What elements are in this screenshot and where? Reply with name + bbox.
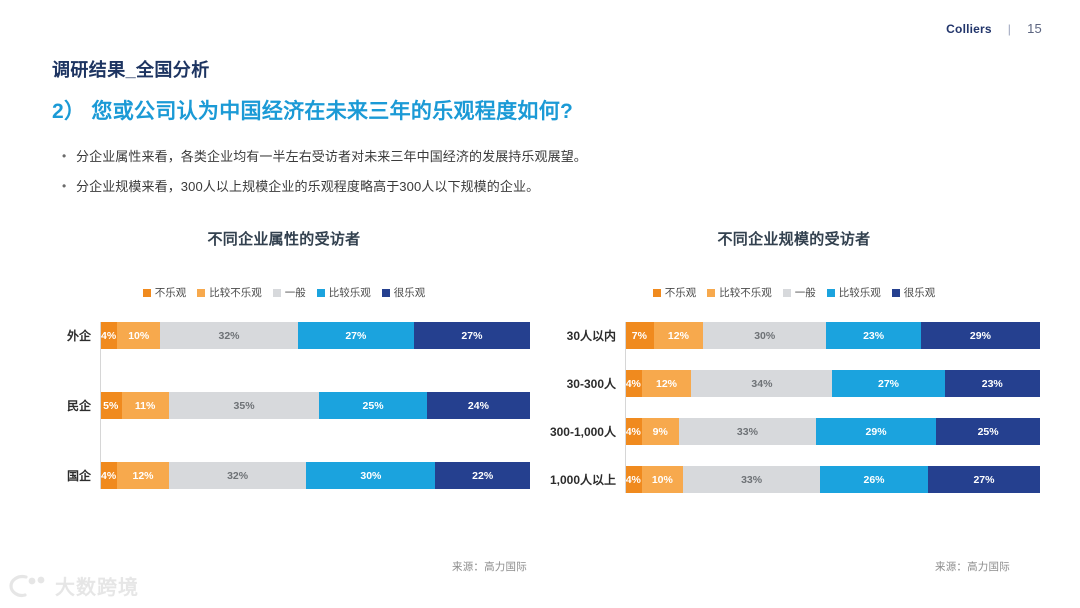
legend-label: 不乐观: [665, 285, 697, 300]
row-spacer: [548, 349, 1040, 370]
legend-swatch-icon: [783, 289, 791, 297]
legend-item[interactable]: 不乐观: [653, 285, 697, 300]
chart-source-note: 来源：高力国际: [935, 559, 1010, 574]
legend-item[interactable]: 不乐观: [143, 285, 187, 300]
bar-segment[interactable]: 34%: [691, 370, 832, 397]
bar-segment[interactable]: 4%: [625, 466, 642, 493]
bar-segment[interactable]: 32%: [169, 462, 307, 489]
bullet-text: 分企业属性来看，各类企业均有一半左右受访者对未来三年中国经济的发展持乐观展望。: [76, 148, 587, 165]
legend-label: 比较乐观: [329, 285, 371, 300]
stacked-bar: 4%9%33%29%25%: [625, 418, 1040, 445]
chart-source-note: 来源：高力国际: [452, 559, 527, 574]
bar-segment[interactable]: 12%: [117, 462, 169, 489]
slide-header: Colliers | 15: [946, 21, 1042, 36]
stacked-bar: 4%12%34%27%23%: [625, 370, 1040, 397]
legend-item[interactable]: 比较乐观: [317, 285, 371, 300]
bullet-marker-icon: •: [62, 178, 76, 195]
chart-company-size: 不同企业规模的受访者 不乐观比较不乐观一般比较乐观很乐观 30人以内7%12%3…: [548, 228, 1040, 493]
chart-row: 民企5%11%35%25%24%: [38, 392, 530, 419]
legend-item[interactable]: 比较乐观: [827, 285, 881, 300]
bar-segment[interactable]: 23%: [945, 370, 1040, 397]
slide-page: Colliers | 15 调研结果_全国分析 2） 您或公司认为中国经济在未来…: [0, 0, 1080, 608]
bullet-list: • 分企业属性来看，各类企业均有一半左右受访者对未来三年中国经济的发展持乐观展望…: [62, 148, 962, 208]
chart-row: 30-300人4%12%34%27%23%: [548, 370, 1040, 397]
list-item: • 分企业属性来看，各类企业均有一半左右受访者对未来三年中国经济的发展持乐观展望…: [62, 148, 962, 165]
bar-segment[interactable]: 4%: [625, 418, 642, 445]
chart-row: 1,000人以上4%10%33%26%27%: [548, 466, 1040, 493]
bar-segment[interactable]: 9%: [642, 418, 679, 445]
bar-segment[interactable]: 12%: [642, 370, 692, 397]
bar-segment[interactable]: 35%: [169, 392, 320, 419]
bar-segment[interactable]: 10%: [117, 322, 160, 349]
page-number: 15: [1027, 21, 1042, 36]
legend-label: 一般: [795, 285, 816, 300]
chart-legend: 不乐观比较不乐观一般比较乐观很乐观: [38, 285, 530, 300]
bar-segment[interactable]: 23%: [826, 322, 921, 349]
bar-segment[interactable]: 11%: [122, 392, 169, 419]
bar-segment[interactable]: 5%: [100, 392, 122, 419]
bullet-text: 分企业规模来看，300人以上规模企业的乐观程度略高于300人以下规模的企业。: [76, 178, 539, 195]
legend-swatch-icon: [653, 289, 661, 297]
legend-label: 一般: [285, 285, 306, 300]
row-spacer: [548, 397, 1040, 418]
legend-label: 比较乐观: [839, 285, 881, 300]
bar-segment[interactable]: 4%: [100, 322, 117, 349]
chart-legend: 不乐观比较不乐观一般比较乐观很乐观: [548, 285, 1040, 300]
bar-segment[interactable]: 4%: [100, 462, 117, 489]
legend-item[interactable]: 一般: [783, 285, 816, 300]
bullet-marker-icon: •: [62, 148, 76, 165]
category-label: 30-300人: [548, 375, 625, 392]
bar-segment[interactable]: 33%: [683, 466, 820, 493]
stacked-bar: 7%12%30%23%29%: [625, 322, 1040, 349]
bar-segment[interactable]: 25%: [319, 392, 427, 419]
chart-title: 不同企业规模的受访者: [548, 228, 1040, 249]
row-spacer: [38, 419, 530, 462]
watermark-text: 大数跨境: [55, 571, 139, 600]
stacked-bar: 5%11%35%25%24%: [100, 392, 530, 419]
chart-title: 不同企业属性的受访者: [38, 228, 530, 249]
legend-swatch-icon: [143, 289, 151, 297]
legend-swatch-icon: [827, 289, 835, 297]
chart-row: 国企4%12%32%30%22%: [38, 462, 530, 489]
category-label: 30人以内: [548, 327, 625, 344]
legend-swatch-icon: [317, 289, 325, 297]
bar-segment[interactable]: 30%: [306, 462, 435, 489]
bar-segment[interactable]: 26%: [820, 466, 928, 493]
category-label: 国企: [38, 467, 100, 484]
legend-label: 很乐观: [394, 285, 426, 300]
legend-item[interactable]: 比较不乐观: [707, 285, 772, 300]
legend-swatch-icon: [707, 289, 715, 297]
legend-item[interactable]: 比较不乐观: [197, 285, 262, 300]
list-item: • 分企业规模来看，300人以上规模企业的乐观程度略高于300人以下规模的企业。: [62, 178, 962, 195]
header-separator: |: [1008, 22, 1011, 36]
legend-item[interactable]: 很乐观: [892, 285, 936, 300]
bar-segment[interactable]: 30%: [703, 322, 826, 349]
chart-row: 300-1,000人4%9%33%29%25%: [548, 418, 1040, 445]
row-spacer: [548, 445, 1040, 466]
stacked-bar: 4%10%33%26%27%: [625, 466, 1040, 493]
watermark-logo-icon: [8, 573, 48, 599]
watermark: 大数跨境: [8, 571, 139, 600]
chart-company-attribute: 不同企业属性的受访者 不乐观比较不乐观一般比较乐观很乐观 外企4%10%32%2…: [38, 228, 530, 489]
chart-plot-area: 30人以内7%12%30%23%29%30-300人4%12%34%27%23%…: [548, 322, 1040, 493]
bar-segment[interactable]: 24%: [427, 392, 530, 419]
bar-segment[interactable]: 29%: [816, 418, 936, 445]
brand-label: Colliers: [946, 22, 992, 36]
bar-segment[interactable]: 27%: [414, 322, 530, 349]
legend-label: 很乐观: [904, 285, 936, 300]
legend-swatch-icon: [892, 289, 900, 297]
bar-segment[interactable]: 27%: [298, 322, 414, 349]
bar-segment[interactable]: 33%: [679, 418, 816, 445]
chart-row: 30人以内7%12%30%23%29%: [548, 322, 1040, 349]
category-label: 外企: [38, 327, 100, 344]
category-label: 民企: [38, 397, 100, 414]
bar-segment[interactable]: 22%: [435, 462, 530, 489]
row-spacer: [38, 349, 530, 392]
bar-segment[interactable]: 4%: [625, 370, 642, 397]
bar-segment[interactable]: 29%: [921, 322, 1040, 349]
category-label: 1,000人以上: [548, 471, 625, 488]
bar-segment[interactable]: 27%: [832, 370, 944, 397]
bar-segment[interactable]: 7%: [625, 322, 654, 349]
legend-swatch-icon: [197, 289, 205, 297]
legend-label: 不乐观: [155, 285, 187, 300]
bar-segment[interactable]: 10%: [642, 466, 684, 493]
bar-segment[interactable]: 27%: [928, 466, 1040, 493]
legend-swatch-icon: [382, 289, 390, 297]
stacked-bar: 4%10%32%27%27%: [100, 322, 530, 349]
legend-swatch-icon: [273, 289, 281, 297]
chart-row: 外企4%10%32%27%27%: [38, 322, 530, 349]
legend-label: 比较不乐观: [209, 285, 262, 300]
stacked-bar: 4%12%32%30%22%: [100, 462, 530, 489]
bar-segment[interactable]: 12%: [654, 322, 703, 349]
page-title: 2） 您或公司认为中国经济在未来三年的乐观程度如何?: [52, 95, 573, 125]
chart-plot-area: 外企4%10%32%27%27%民企5%11%35%25%24%国企4%12%3…: [38, 322, 530, 489]
section-kicker: 调研结果_全国分析: [52, 56, 210, 82]
legend-item[interactable]: 很乐观: [382, 285, 426, 300]
legend-label: 比较不乐观: [719, 285, 772, 300]
category-label: 300-1,000人: [548, 423, 625, 440]
legend-item[interactable]: 一般: [273, 285, 306, 300]
bar-segment[interactable]: 32%: [160, 322, 298, 349]
bar-segment[interactable]: 25%: [936, 418, 1040, 445]
